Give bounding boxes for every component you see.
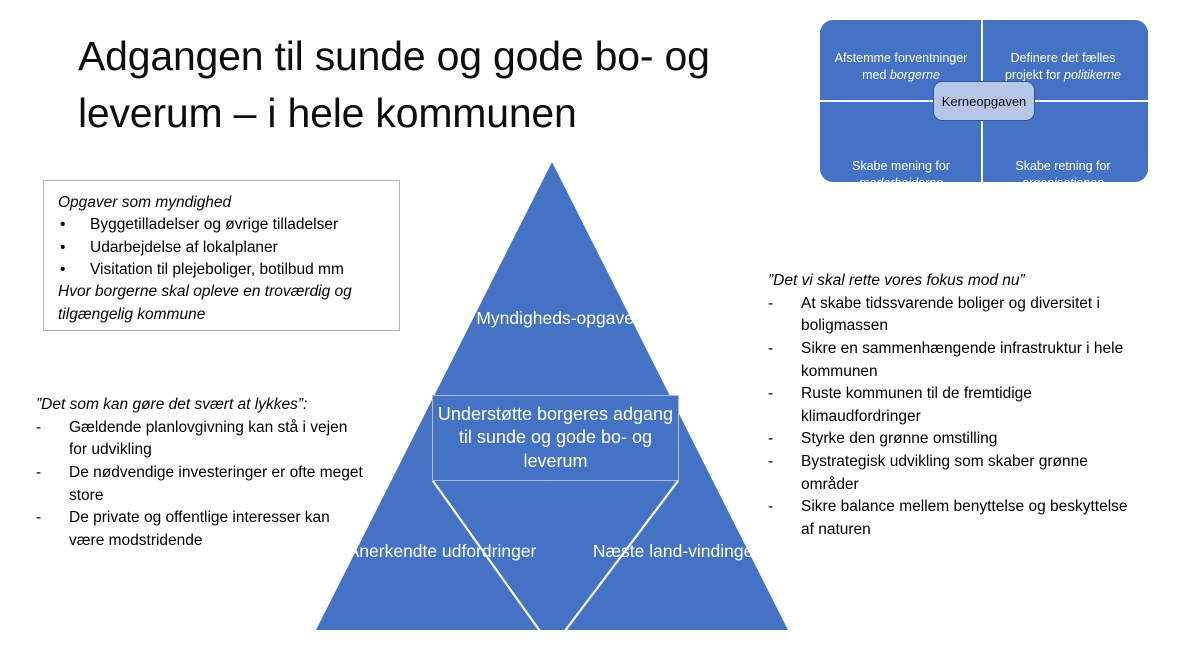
dash-bullet-icon: - [36,462,69,485]
quadrant-cell-line1: Afstemme forventninger [826,50,976,67]
quadrant-cell-bottom-left: Skabe mening for medarbejderne [826,158,976,192]
quadrant-cell-emphasis: medarbejderne [859,176,943,190]
pyramid-center-box: Understøtte borgeres adgang til sunde og… [432,395,679,481]
dash-bullet-icon: - [768,338,801,361]
quadrant-cell-line1: Skabe mening for [826,158,976,175]
list-item-text: Sikre balance mellem benyttelse og besky… [801,496,1138,541]
focus-heading: ”Det vi skal rette vores fokus mod nu” [768,270,1138,293]
list-item: - Sikre balance mellem benyttelse og bes… [768,496,1138,541]
list-item: - De nødvendige investeringer er ofte me… [36,462,366,507]
dash-bullet-icon: - [768,496,801,519]
quadrant-cell-emphasis: borgerne [890,68,940,82]
quadrant-cell-emphasis: organisationen [1022,176,1104,190]
list-item: - Bystrategisk udvikling som skaber grøn… [768,451,1138,496]
list-item: - At skabe tidssvarende boliger og diver… [768,293,1138,338]
dash-bullet-icon: - [36,507,69,530]
barriers-heading: ”Det som kan gøre det svært at lykkes”: [36,394,366,417]
list-item-text: Gældende planlovgivning kan stå i vejen … [69,417,366,462]
list-item: - Styrke den grønne omstilling [768,428,1138,451]
list-item: - De private og offentlige interesser ka… [36,507,366,552]
dash-bullet-icon: - [768,428,801,451]
quadrant-cell-line1: Definere det fælles [988,50,1138,67]
quadrant-cell-prefix: projekt for [1005,68,1064,82]
bullet-icon: • [58,237,90,259]
bullet-icon: • [58,214,90,236]
list-item-text: At skabe tidssvarende boliger og diversi… [801,293,1138,338]
pyramid-bottom-right-label: Næste land-vindinger [576,540,776,563]
pyramid-center-label: Understøtte borgeres adgang til sunde og… [433,403,678,473]
pyramid-bottom-left-label: Anerkendte udfordringer [342,540,542,563]
list-item-text: Bystrategisk udvikling som skaber grønne… [801,451,1138,496]
kerneopgaven-quadrant-diagram: Afstemme forventninger med borgerne Defi… [820,20,1148,182]
barriers-list-block: ”Det som kan gøre det svært at lykkes”: … [36,394,366,552]
quadrant-cell-top-left: Afstemme forventninger med borgerne [826,50,976,84]
list-item: - Gældende planlovgivning kan stå i veje… [36,417,366,462]
quadrant-cell-top-right: Definere det fælles projekt for politike… [988,50,1138,84]
dash-bullet-icon: - [768,383,801,406]
quadrant-cell-prefix: med [862,68,890,82]
pyramid-top-label: Myndigheds-opgaven [470,307,650,330]
focus-list-block: ”Det vi skal rette vores fokus mod nu” -… [768,270,1138,542]
quadrant-cell-line2: medarbejderne [826,175,976,192]
list-item-text: Styrke den grønne omstilling [801,428,1138,451]
list-item-text: Sikre en sammenhængende infrastruktur i … [801,338,1138,383]
dash-bullet-icon: - [768,451,801,474]
list-item-text: De private og offentlige interesser kan … [69,507,366,552]
dash-bullet-icon: - [768,293,801,316]
list-item: - Ruste kommunen til de fremtidige klima… [768,383,1138,428]
quadrant-cell-line1: Skabe retning for [988,158,1138,175]
bullet-icon: • [58,259,90,281]
list-item-text: De nødvendige investeringer er ofte mege… [69,462,366,507]
page-title: Adgangen til sunde og gode bo- og leveru… [78,28,778,141]
pyramid-diagram: Myndigheds-opgaven Understøtte borgeres … [300,150,820,650]
quadrant-cell-emphasis: politikerne [1064,68,1121,82]
quadrant-cell-line2: organisationen [988,175,1138,192]
kerneopgaven-center-chip: Kerneopgaven [933,81,1035,121]
list-item: - Sikre en sammenhængende infrastruktur … [768,338,1138,383]
kerneopgaven-center-label: Kerneopgaven [942,94,1027,109]
dash-bullet-icon: - [36,417,69,440]
quadrant-cell-bottom-right: Skabe retning for organisationen [988,158,1138,192]
list-item-text: Ruste kommunen til de fremtidige klimaud… [801,383,1138,428]
